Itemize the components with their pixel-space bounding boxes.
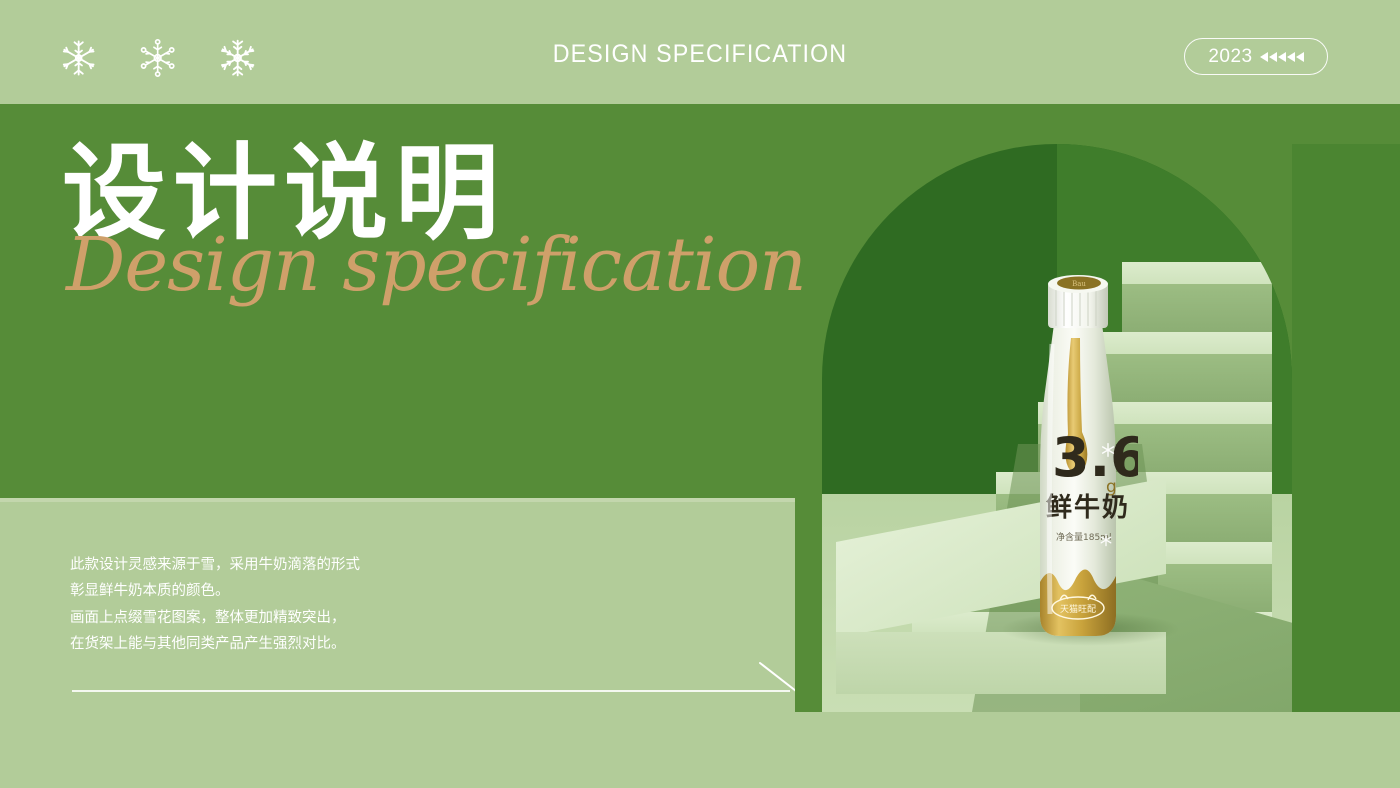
rewind-arrows-icon bbox=[1260, 52, 1304, 62]
arrow-head-icon bbox=[758, 663, 798, 693]
description-paragraph: 此款设计灵感来源于雪，采用牛奶滴落的形式 彰显鲜牛奶本质的颜色。 画面上点缀雪花… bbox=[70, 552, 490, 658]
page-header: DESIGN SPECIFICATION 2023 bbox=[0, 0, 1400, 104]
scene-arch: Bau 3.6 g 鲜牛奶 净含量185ml 天猫旺配 bbox=[822, 144, 1292, 712]
label-fat-value: 3.6 bbox=[1052, 426, 1138, 489]
milk-bottle: Bau 3.6 g 鲜牛奶 净含量185ml 天猫旺配 bbox=[1018, 264, 1138, 654]
description-line: 画面上点缀雪花图案，整体更加精致突出， bbox=[70, 605, 490, 631]
label-badge-text: 天猫旺配 bbox=[1060, 603, 1096, 615]
description-line: 在货架上能与其他同类产品产生强烈对比。 bbox=[70, 631, 490, 657]
description-line: 彰显鲜牛奶本质的颜色。 bbox=[70, 578, 490, 604]
scene-right-wall bbox=[1292, 144, 1400, 712]
label-product-name: 鲜牛奶 bbox=[1046, 492, 1130, 523]
cap-logo-text: Bau bbox=[1072, 280, 1086, 288]
description-line: 此款设计灵感来源于雪，采用牛奶滴落的形式 bbox=[70, 552, 490, 578]
year-badge[interactable]: 2023 bbox=[1184, 38, 1328, 75]
hero-title-english: Design specification bbox=[66, 228, 806, 302]
footer-rule bbox=[72, 690, 790, 692]
page-title: DESIGN SPECIFICATION bbox=[49, 40, 1351, 69]
year-label: 2023 bbox=[1208, 46, 1252, 68]
bottle-highlight bbox=[1049, 344, 1052, 614]
product-scene-panel: Bau 3.6 g 鲜牛奶 净含量185ml 天猫旺配 bbox=[795, 104, 1400, 712]
